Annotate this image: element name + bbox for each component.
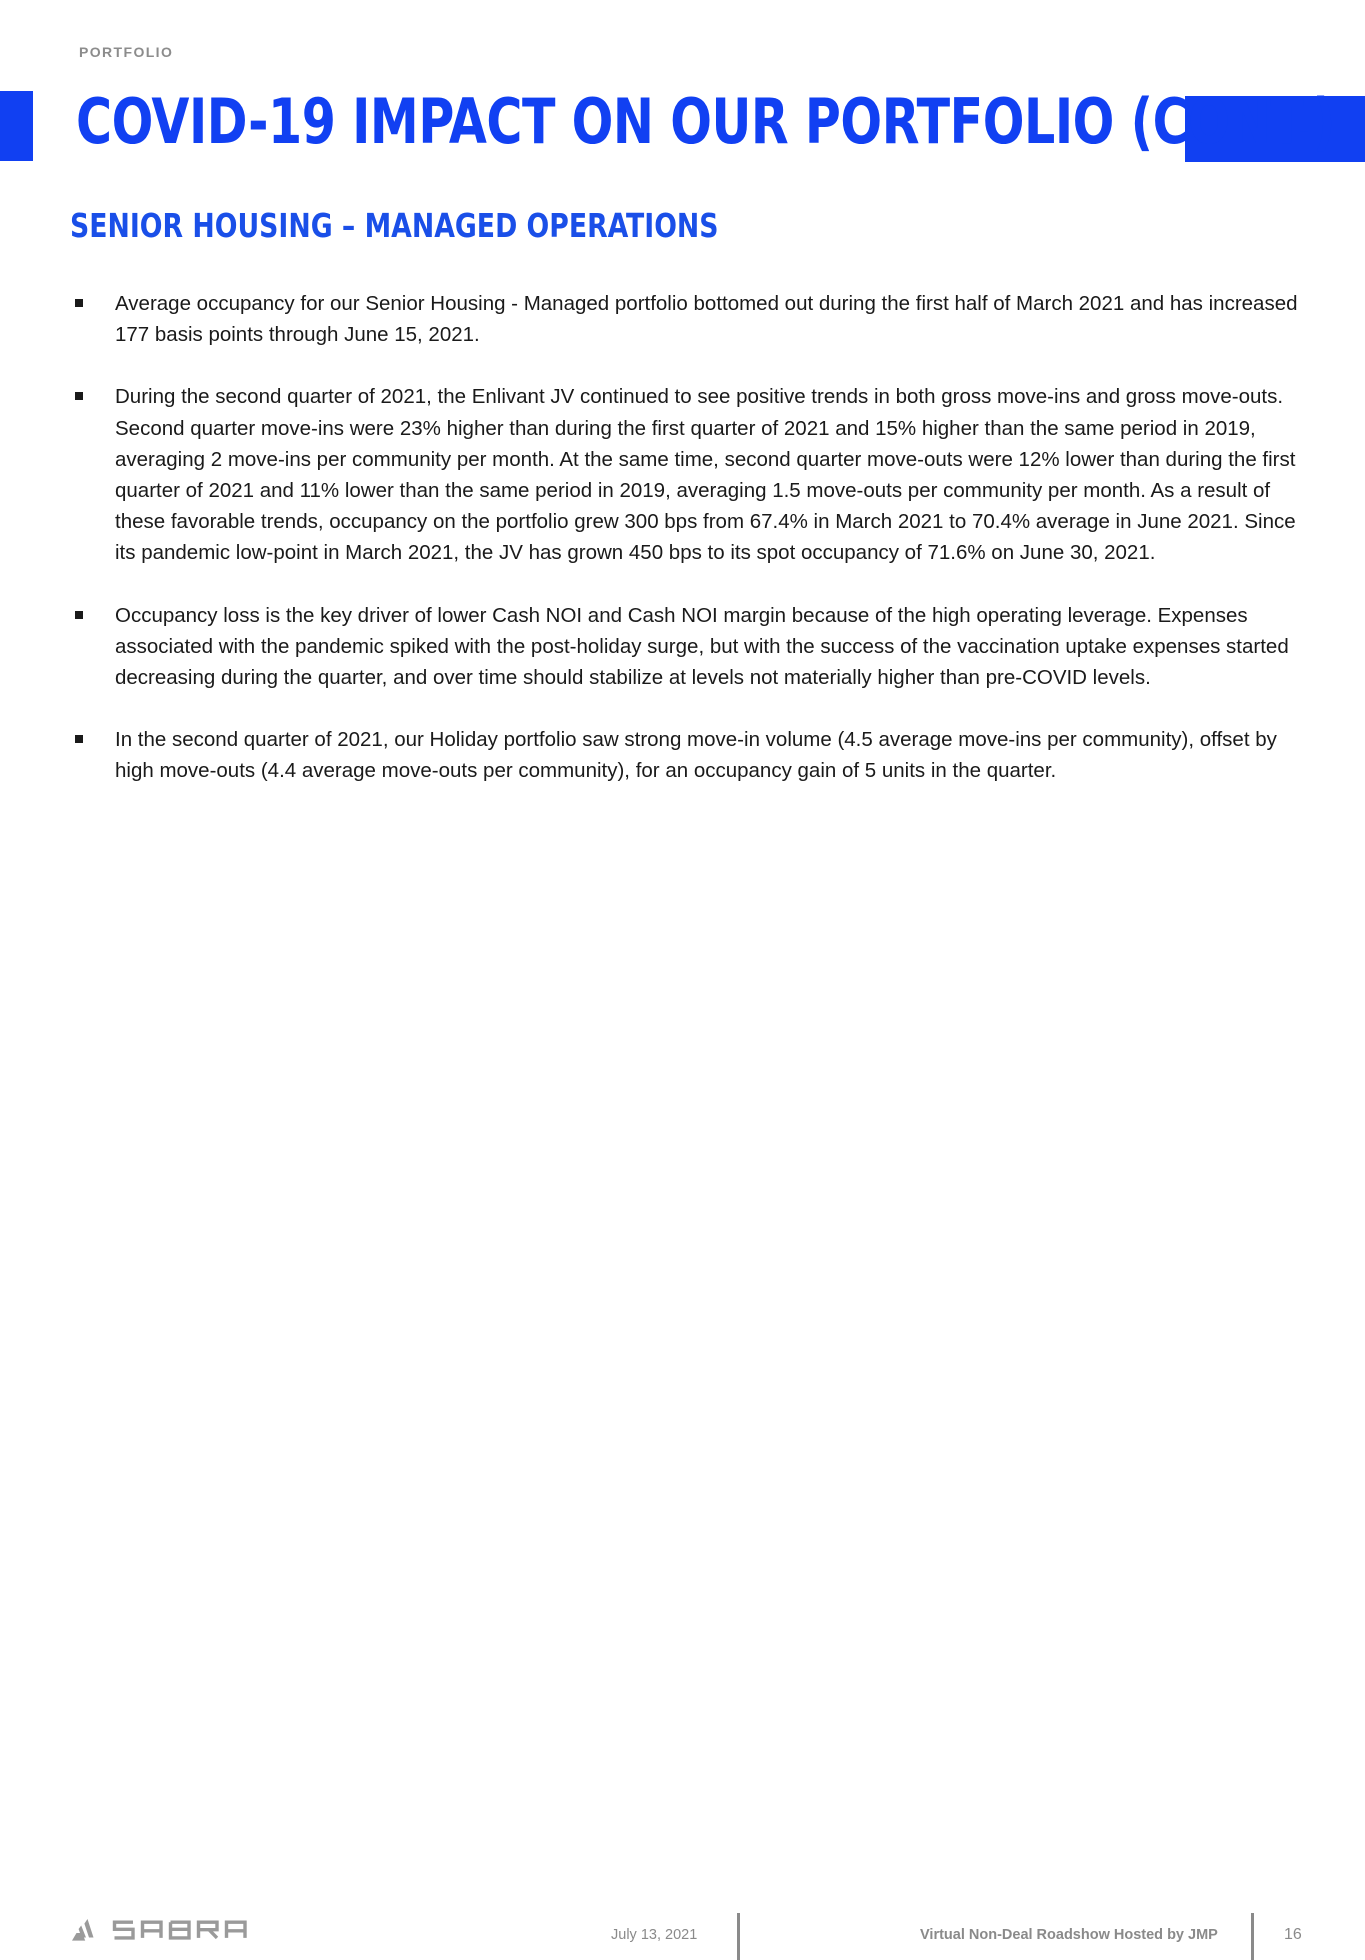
slide-canvas: PORTFOLIO COVID-19 IMPACT ON OUR PORTFOL… [0, 0, 1365, 1024]
eyebrow-label: PORTFOLIO [79, 43, 173, 61]
list-item-text: During the second quarter of 2021, the E… [115, 385, 1296, 564]
square-bullet-icon [75, 392, 83, 400]
page-title: COVID-19 IMPACT ON OUR PORTFOLIO (CONT.) [76, 84, 1335, 160]
square-bullet-icon [75, 611, 83, 619]
footer-divider [737, 1913, 740, 1960]
list-item-text: Occupancy loss is the key driver of lowe… [115, 604, 1289, 689]
square-bullet-icon [75, 299, 83, 307]
sabra-logo [70, 1916, 252, 1951]
square-bullet-icon [75, 735, 83, 743]
sabra-triangle-logo-icon [70, 1916, 100, 1951]
title-accent-bar-left [0, 91, 33, 161]
slide-footer: July 13, 2021 Virtual Non-Deal Roadshow … [0, 950, 1365, 1024]
list-item: During the second quarter of 2021, the E… [70, 381, 1300, 568]
list-item-text: Average occupancy for our Senior Housing… [115, 292, 1298, 346]
list-item: Average occupancy for our Senior Housing… [70, 288, 1300, 350]
page-number: 16 [1284, 1926, 1302, 1944]
footer-divider [1251, 1913, 1254, 1960]
list-item: In the second quarter of 2021, our Holid… [70, 724, 1300, 786]
footer-event-label: Virtual Non-Deal Roadshow Hosted by JMP [920, 1927, 1218, 1943]
section-heading: SENIOR HOUSING – MANAGED OPERATIONS [70, 206, 719, 246]
list-item: Occupancy loss is the key driver of lowe… [70, 600, 1300, 694]
list-item-text: In the second quarter of 2021, our Holid… [115, 728, 1277, 782]
footer-date: July 13, 2021 [611, 1927, 697, 1943]
bullet-list: Average occupancy for our Senior Housing… [70, 288, 1300, 787]
sabra-wordmark [109, 1918, 252, 1949]
